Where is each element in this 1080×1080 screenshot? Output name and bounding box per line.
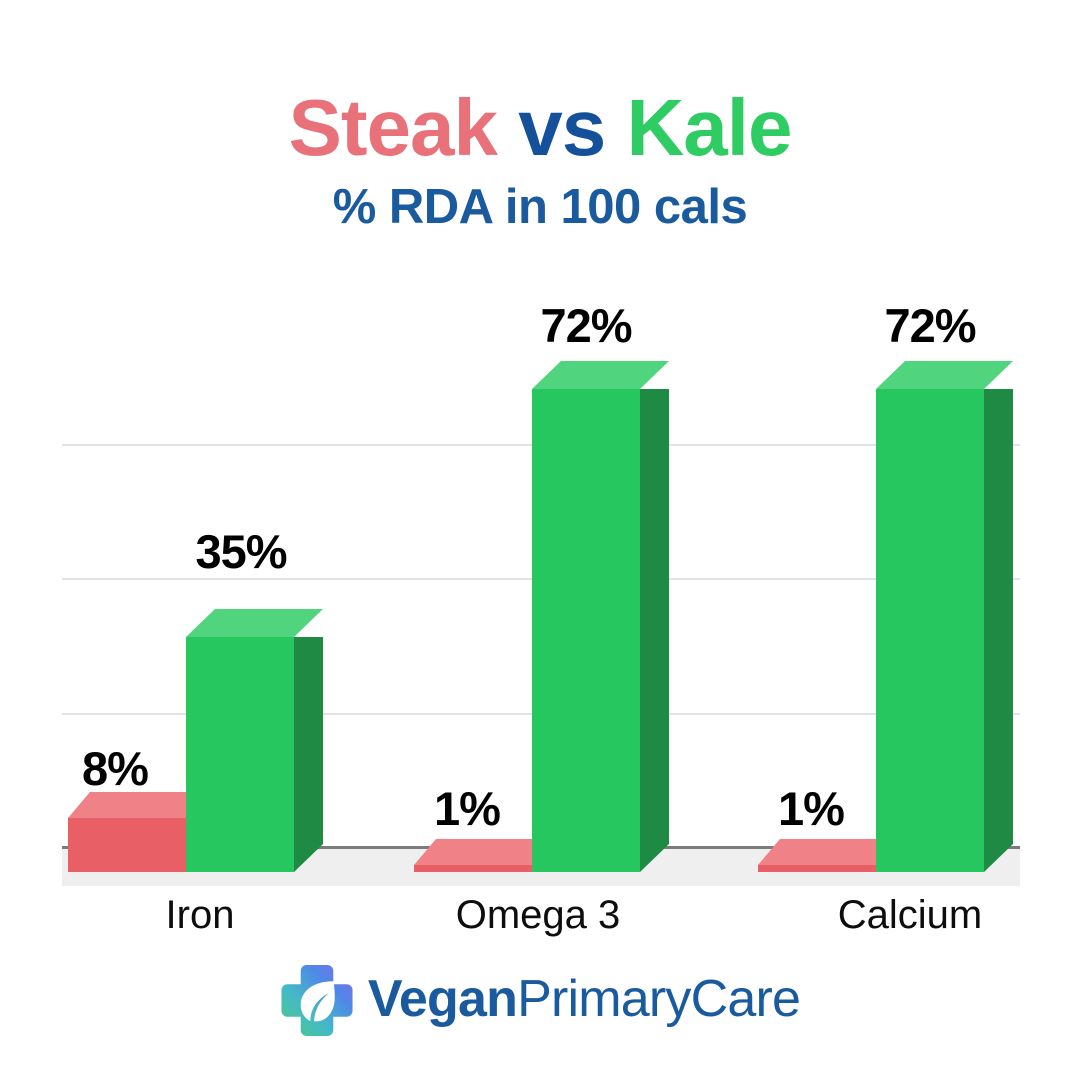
value-label-kale-omega3: 72% [511,302,661,349]
bar-front-face [532,389,640,872]
bar-kale-iron[interactable] [186,637,294,872]
category-label-calcium: Calcium [800,895,1020,935]
bar-top-face [876,361,1013,389]
bar-side-face [640,389,669,872]
value-label-steak-calcium: 1% [756,785,866,832]
bar-side-face [984,389,1013,872]
category-label-omega3: Omega 3 [428,895,648,935]
bar-front-face [68,818,186,872]
value-label-kale-calcium: 72% [855,302,1005,349]
brand-name-bold: Vegan [368,970,517,1028]
bar-steak-iron[interactable] [68,818,186,872]
bar-front-face [876,389,984,872]
value-label-kale-iron: 35% [166,528,316,575]
bar-top-face [532,361,669,389]
plot-area: 8% 35% Iron 1% 72% Omega 3 [0,0,1080,1080]
value-label-steak-omega3: 1% [412,785,522,832]
bar-front-face [758,865,876,872]
bar-front-face [186,637,294,872]
infographic-canvas: Steak vs Kale % RDA in 100 cals 8% 35% I… [0,0,1080,1080]
bar-top-face [758,839,876,865]
bar-top-face [414,839,532,865]
bar-top-face [186,609,323,637]
category-label-iron: Iron [100,895,300,935]
brand-name-light: PrimaryCare [517,970,800,1028]
value-label-steak-iron: 8% [60,745,170,792]
brand-name: VeganPrimaryCare [368,973,800,1025]
bar-kale-omega3[interactable] [532,389,640,872]
bar-kale-calcium[interactable] [876,389,984,872]
bar-steak-omega3[interactable] [414,865,532,872]
bar-steak-calcium[interactable] [758,865,876,872]
brand-footer[interactable]: VeganPrimaryCare [0,962,1080,1036]
medical-cross-leaf-icon [280,962,354,1036]
bar-top-face [68,792,186,818]
bar-side-face [294,637,323,872]
bar-front-face [414,865,532,872]
